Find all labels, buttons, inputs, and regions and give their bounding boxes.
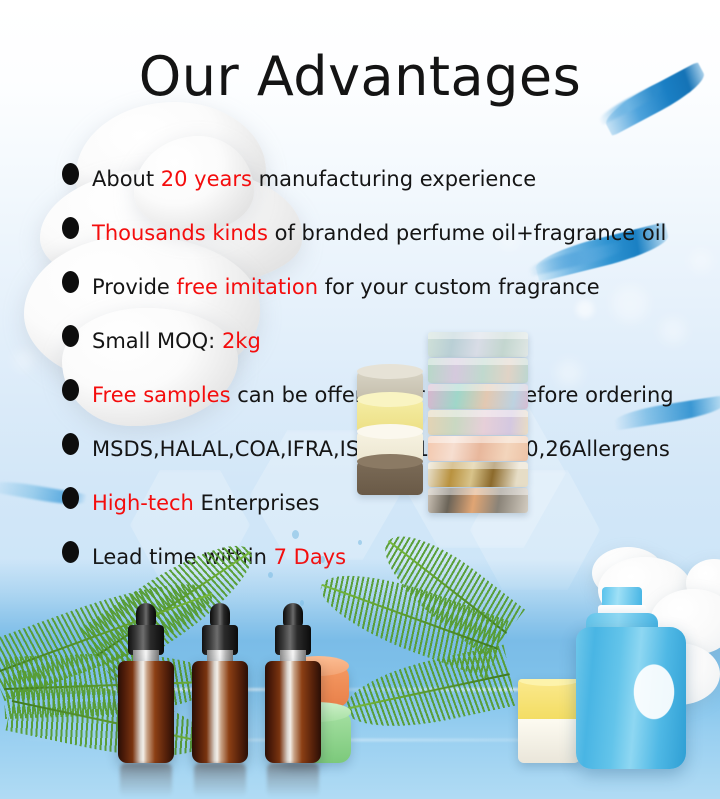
bullet-icon — [62, 487, 79, 509]
bokeh-circle — [14, 350, 34, 370]
bullet-icon — [62, 433, 79, 455]
marbled-soap-bar — [428, 410, 528, 435]
advantage-text: Thousands kinds of branded perfume oil+f… — [92, 222, 666, 244]
advantage-item: About 20 years manufacturing experience — [62, 152, 702, 206]
page-title: Our Advantages — [0, 50, 720, 104]
highlight-text: 20 years — [161, 167, 252, 191]
bullet-icon — [62, 271, 79, 293]
brown-round-soap — [357, 461, 423, 495]
advantage-item: Small MOQ: 2kg — [62, 314, 702, 368]
oatmeal-soap-bar — [428, 462, 528, 487]
highlight-text: Free samples — [92, 383, 231, 407]
product-montage — [0, 529, 720, 799]
marbled-soap-bar — [428, 384, 528, 409]
highlight-text: High-tech — [92, 491, 194, 515]
blue-detergent-jug — [576, 601, 686, 769]
bokeh-circle — [28, 296, 58, 326]
advantage-text: Small MOQ: 2kg — [92, 330, 261, 352]
advantages-banner: Our Advantages About 20 years manufactur… — [0, 0, 720, 799]
plain-text: for your custom fragrance — [318, 275, 600, 299]
marbled-soap-bar — [428, 358, 528, 383]
bullet-icon — [62, 163, 79, 185]
advantage-item: Thousands kinds of branded perfume oil+f… — [62, 206, 702, 260]
marbled-soap-bar — [428, 332, 528, 357]
plain-text: About — [92, 167, 161, 191]
highlight-text: 2kg — [222, 329, 261, 353]
bullet-icon — [62, 379, 79, 401]
marbled-soap-bar — [428, 488, 528, 513]
plain-text: manufacturing experience — [252, 167, 536, 191]
marbled-soap-bar — [428, 436, 528, 461]
advantage-text: Provide free imitation for your custom f… — [92, 276, 600, 298]
plain-text: Enterprises — [194, 491, 320, 515]
plain-text: Small MOQ: — [92, 329, 222, 353]
highlight-text: Thousands kinds — [92, 221, 268, 245]
advantage-item: Provide free imitation for your custom f… — [62, 260, 702, 314]
bullet-icon — [62, 217, 79, 239]
highlight-text: free imitation — [177, 275, 319, 299]
yellow-white-cosmetic-jar — [518, 679, 580, 763]
advantage-text: High-tech Enterprises — [92, 492, 320, 514]
plain-text: of branded perfume oil+fragrance oil — [268, 221, 666, 245]
advantage-text: About 20 years manufacturing experience — [92, 168, 536, 190]
plain-text: Provide — [92, 275, 177, 299]
bullet-icon — [62, 325, 79, 347]
